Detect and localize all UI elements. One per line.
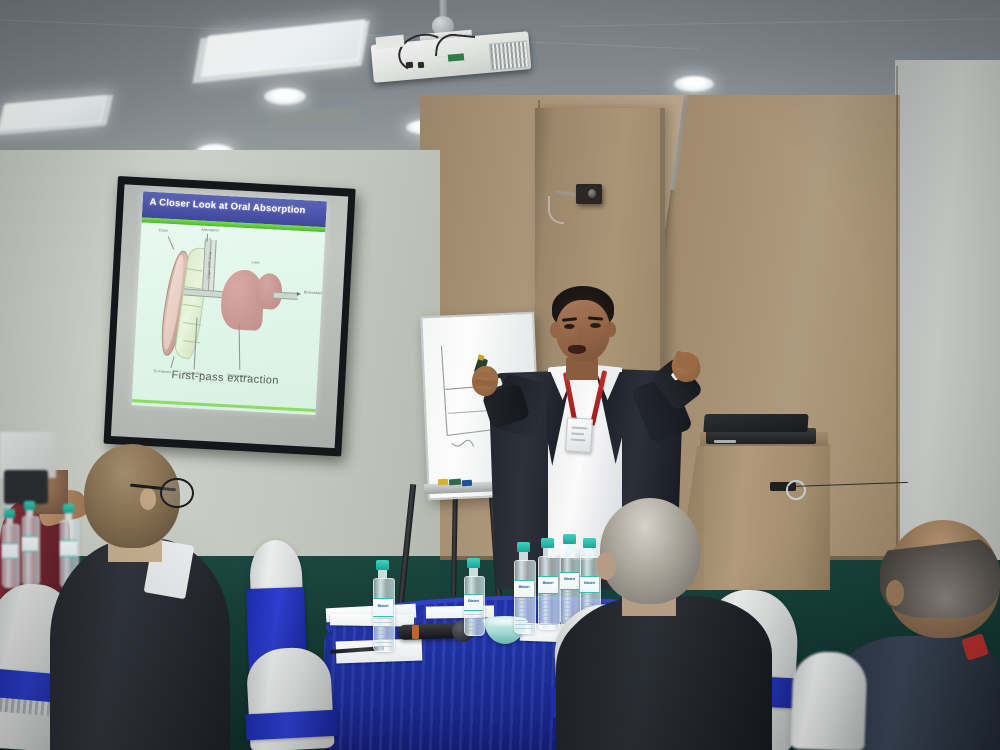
projection-screen: A Closer Look at Oral Absorption (104, 176, 356, 456)
diagram-label-liver: Liver (251, 260, 260, 264)
attendee-left-ear (140, 488, 156, 510)
marker-green[interactable] (449, 479, 461, 486)
bottle-ribs (539, 592, 557, 626)
bottle-cap (563, 534, 576, 544)
presenter-ear-left (550, 322, 561, 338)
projector-vent-grille (489, 40, 529, 70)
bottle-brand-text: Bisleri (538, 580, 558, 585)
sensor-lens-icon (588, 189, 596, 198)
diagram-label-dose: Dose (159, 228, 168, 232)
attendee-center-ear (596, 552, 616, 580)
faeces-leader (170, 356, 174, 368)
bottle-cap (376, 560, 389, 570)
bottle-cap (24, 501, 35, 510)
marker-blue[interactable] (462, 480, 472, 487)
equipment-box (4, 470, 48, 504)
attendee-right-ear (886, 580, 904, 606)
bottle-cap (583, 538, 596, 548)
bottle-label (60, 540, 77, 557)
attendee-left-body (50, 538, 230, 750)
bottle-label (2, 543, 18, 559)
bottle-label: Bisleri (373, 598, 393, 617)
chair-sash (245, 710, 338, 741)
attendee-center-body (560, 596, 772, 750)
presenter-eye-right (590, 323, 601, 328)
bottle-cap (4, 509, 15, 518)
reabsorption-leader (239, 324, 241, 370)
bottle-brand-text: Bisleri (464, 598, 483, 603)
bottle-label: Bisleri (560, 572, 579, 590)
microphone-band (412, 625, 419, 639)
laptop-highlight (714, 440, 736, 443)
bottle-label: Bisleri (580, 576, 599, 593)
attendee-center-head (600, 498, 700, 604)
bottle-label: Bisleri (514, 580, 534, 598)
diagram-label-absorption: Absorption (201, 228, 219, 233)
badge-text-line (571, 432, 584, 435)
bottle-label: Bisleri (538, 576, 558, 594)
bottle-brand-text: Bisleri (514, 584, 534, 589)
laptop-lid[interactable] (703, 414, 808, 432)
bottle-cap (517, 542, 530, 552)
marker-yellow[interactable] (438, 479, 448, 486)
bottle-label (22, 536, 38, 552)
downlight (264, 88, 306, 105)
bottle-brand-text: Bisleri (580, 580, 599, 585)
bottle-cap (63, 504, 74, 513)
conference-room-photo: A Closer Look at Oral Absorption (0, 0, 1000, 750)
bottle-ribs (515, 596, 533, 630)
bioavailability-arrow-icon (297, 292, 301, 296)
presenter-nose (572, 326, 583, 342)
bottle-brand-text: Bisleri (560, 576, 579, 581)
bottle-brand-text: Bisleri (373, 603, 393, 608)
presenter-finger (676, 351, 684, 368)
hepatic-outflow-vessel (274, 292, 298, 300)
dose-leader (168, 236, 174, 249)
presenter-mouth (568, 345, 586, 354)
bottle-cap (541, 538, 554, 548)
banquet-chair[interactable] (790, 651, 867, 750)
bottle-cap (467, 558, 480, 568)
presenter-ear-right (606, 322, 616, 337)
bottle-ribs (374, 614, 392, 648)
bottle-label: Bisleri (464, 594, 483, 611)
wall-plaster-right (895, 60, 1000, 580)
lectern (704, 444, 830, 590)
badge-text-line (571, 438, 586, 441)
presenter-name-badge (565, 417, 593, 453)
eyeglasses-lens-icon (160, 478, 194, 508)
badge-text-line (571, 426, 587, 429)
presentation-slide: A Closer Look at Oral Absorption (132, 191, 327, 415)
downlight (674, 76, 714, 92)
